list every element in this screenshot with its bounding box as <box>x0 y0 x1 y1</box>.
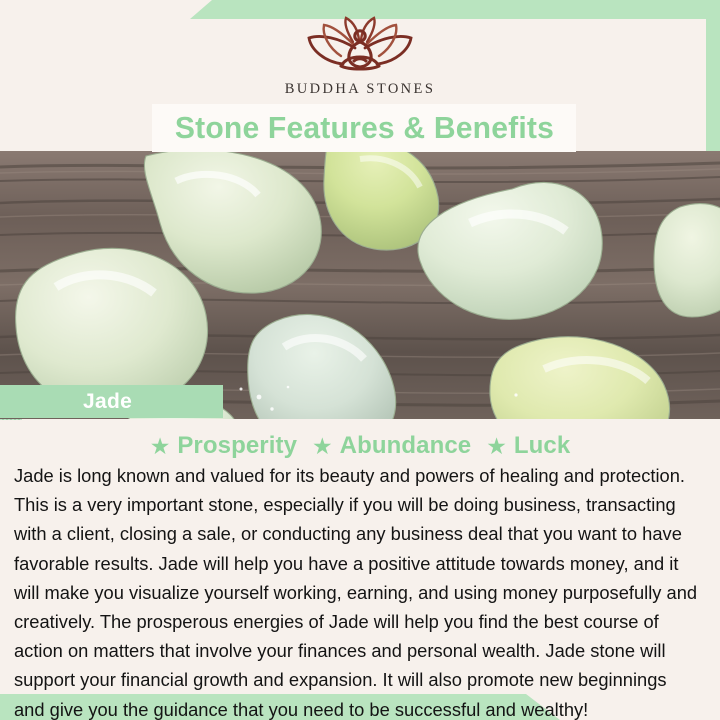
star-icon: ★ <box>486 435 507 458</box>
stone-name-chip: Jade <box>0 385 223 418</box>
title-band: Stone Features & Benefits <box>152 104 576 152</box>
description-text: Jade is long known and valued for its be… <box>14 461 698 720</box>
benefit-label: Abundance <box>340 432 472 460</box>
brand-logo: BUDDHA STONES <box>0 14 720 112</box>
lotus-meditation-icon <box>297 14 423 78</box>
stone-name-label: Jade <box>83 390 132 414</box>
benefit-item-luck: ★ Luck <box>486 432 570 460</box>
benefit-item-prosperity: ★ Prosperity <box>150 432 297 460</box>
brand-name: BUDDHA STONES <box>285 81 436 98</box>
hero-image <box>0 151 720 419</box>
benefits-row: ★ Prosperity ★ Abundance ★ Luck <box>0 429 720 463</box>
jade-stones-photo <box>0 151 720 419</box>
benefit-label: Luck <box>514 432 570 460</box>
page-title: Stone Features & Benefits <box>174 110 553 146</box>
star-icon: ★ <box>150 435 171 458</box>
star-icon: ★ <box>312 435 333 458</box>
benefit-label: Prosperity <box>177 432 297 460</box>
infographic-card: BUDDHA STONES Stone Features & Benefits <box>0 0 720 720</box>
benefit-item-abundance: ★ Abundance <box>312 432 471 460</box>
